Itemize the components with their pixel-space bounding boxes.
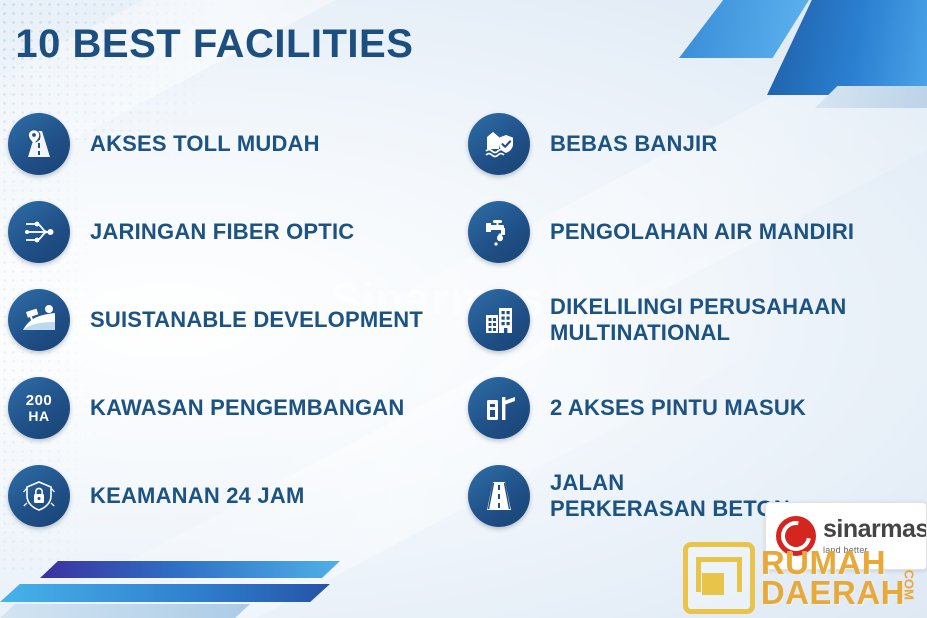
facility-item: BEBAS BANJIR bbox=[468, 100, 920, 188]
facility-item: JARINGAN FIBER OPTIC bbox=[8, 188, 468, 276]
facility-item: DIKELILINGI PERUSAHAAN MULTINATIONAL bbox=[468, 276, 920, 364]
area-badge-text: 200 HA bbox=[26, 393, 53, 423]
facilities-column-right: BEBAS BANJIR PENGOLAHAN AIR MANDIRI bbox=[468, 100, 920, 540]
facility-label: BEBAS BANJIR bbox=[550, 131, 717, 157]
bottom-ribbon-2 bbox=[0, 584, 330, 602]
flood-free-shield-icon bbox=[468, 113, 530, 175]
water-tap-icon bbox=[468, 201, 530, 263]
area-number: 200 bbox=[26, 393, 53, 409]
facility-label-line1: DIKELILINGI PERUSAHAAN bbox=[550, 294, 847, 319]
bottom-ribbon-1 bbox=[40, 561, 340, 578]
office-buildings-icon bbox=[468, 289, 530, 351]
sinarmas-name: sinarmas bbox=[823, 517, 927, 542]
facility-item: 2 AKSES PINTU MASUK bbox=[468, 364, 920, 452]
house-icon bbox=[683, 542, 755, 614]
green-hill-solar-icon bbox=[8, 289, 70, 351]
facility-label: KEAMANAN 24 JAM bbox=[90, 483, 304, 509]
facility-label: JARINGAN FIBER OPTIC bbox=[90, 219, 354, 245]
sinarmas-logo: sinarmas land better bbox=[765, 502, 927, 570]
area-unit: HA bbox=[26, 409, 53, 424]
sinarmas-mark-icon bbox=[776, 516, 816, 556]
facility-label-line1: JALAN bbox=[550, 470, 624, 495]
facility-item: AKSES TOLL MUDAH bbox=[8, 100, 468, 188]
shield-lock-icon bbox=[8, 465, 70, 527]
facility-label: SUISTANABLE DEVELOPMENT bbox=[90, 307, 423, 333]
rumahdaerah-line2: DAERAH bbox=[761, 578, 905, 608]
bottom-ribbon-group bbox=[0, 528, 480, 618]
facility-label-line2: MULTINATIONAL bbox=[550, 320, 730, 345]
facility-label: AKSES TOLL MUDAH bbox=[90, 131, 320, 157]
rumahdaerah-com: COM bbox=[901, 570, 916, 600]
facility-item: PENGOLAHAN AIR MANDIRI bbox=[468, 188, 920, 276]
corner-ribbon-group bbox=[667, 0, 927, 110]
bottom-ribbon-3 bbox=[0, 604, 250, 618]
facility-label: PENGOLAHAN AIR MANDIRI bbox=[550, 219, 854, 245]
sinarmas-logo-text: sinarmas land better bbox=[823, 517, 927, 555]
facility-label: 2 AKSES PINTU MASUK bbox=[550, 395, 806, 421]
slide-title: : 10 BEST FACILITIES bbox=[0, 22, 413, 67]
entrance-gate-icon bbox=[468, 377, 530, 439]
facility-item: SUISTANABLE DEVELOPMENT bbox=[8, 276, 468, 364]
concrete-road-icon bbox=[468, 465, 530, 527]
facility-label-line2: PERKERASAN BETON bbox=[550, 496, 790, 521]
area-size-icon: 200 HA bbox=[8, 377, 70, 439]
facility-item: KEAMANAN 24 JAM bbox=[8, 452, 468, 540]
fiber-network-icon bbox=[8, 201, 70, 263]
sinarmas-tagline: land better bbox=[823, 545, 927, 555]
facilities-column-left: AKSES TOLL MUDAH JARINGAN FIBER O bbox=[8, 100, 468, 540]
map-pin-road-icon bbox=[8, 113, 70, 175]
facility-label: JALAN PERKERASAN BETON bbox=[550, 470, 790, 522]
slide-canvas: : 10 BEST FACILITIES Sinarmas AKSES TOLL bbox=[0, 0, 927, 618]
facility-label: KAWASAN PENGEMBANGAN bbox=[90, 395, 404, 421]
facility-item: 200 HA KAWASAN PENGEMBANGAN bbox=[8, 364, 468, 452]
facility-label: DIKELILINGI PERUSAHAAN MULTINATIONAL bbox=[550, 294, 847, 346]
